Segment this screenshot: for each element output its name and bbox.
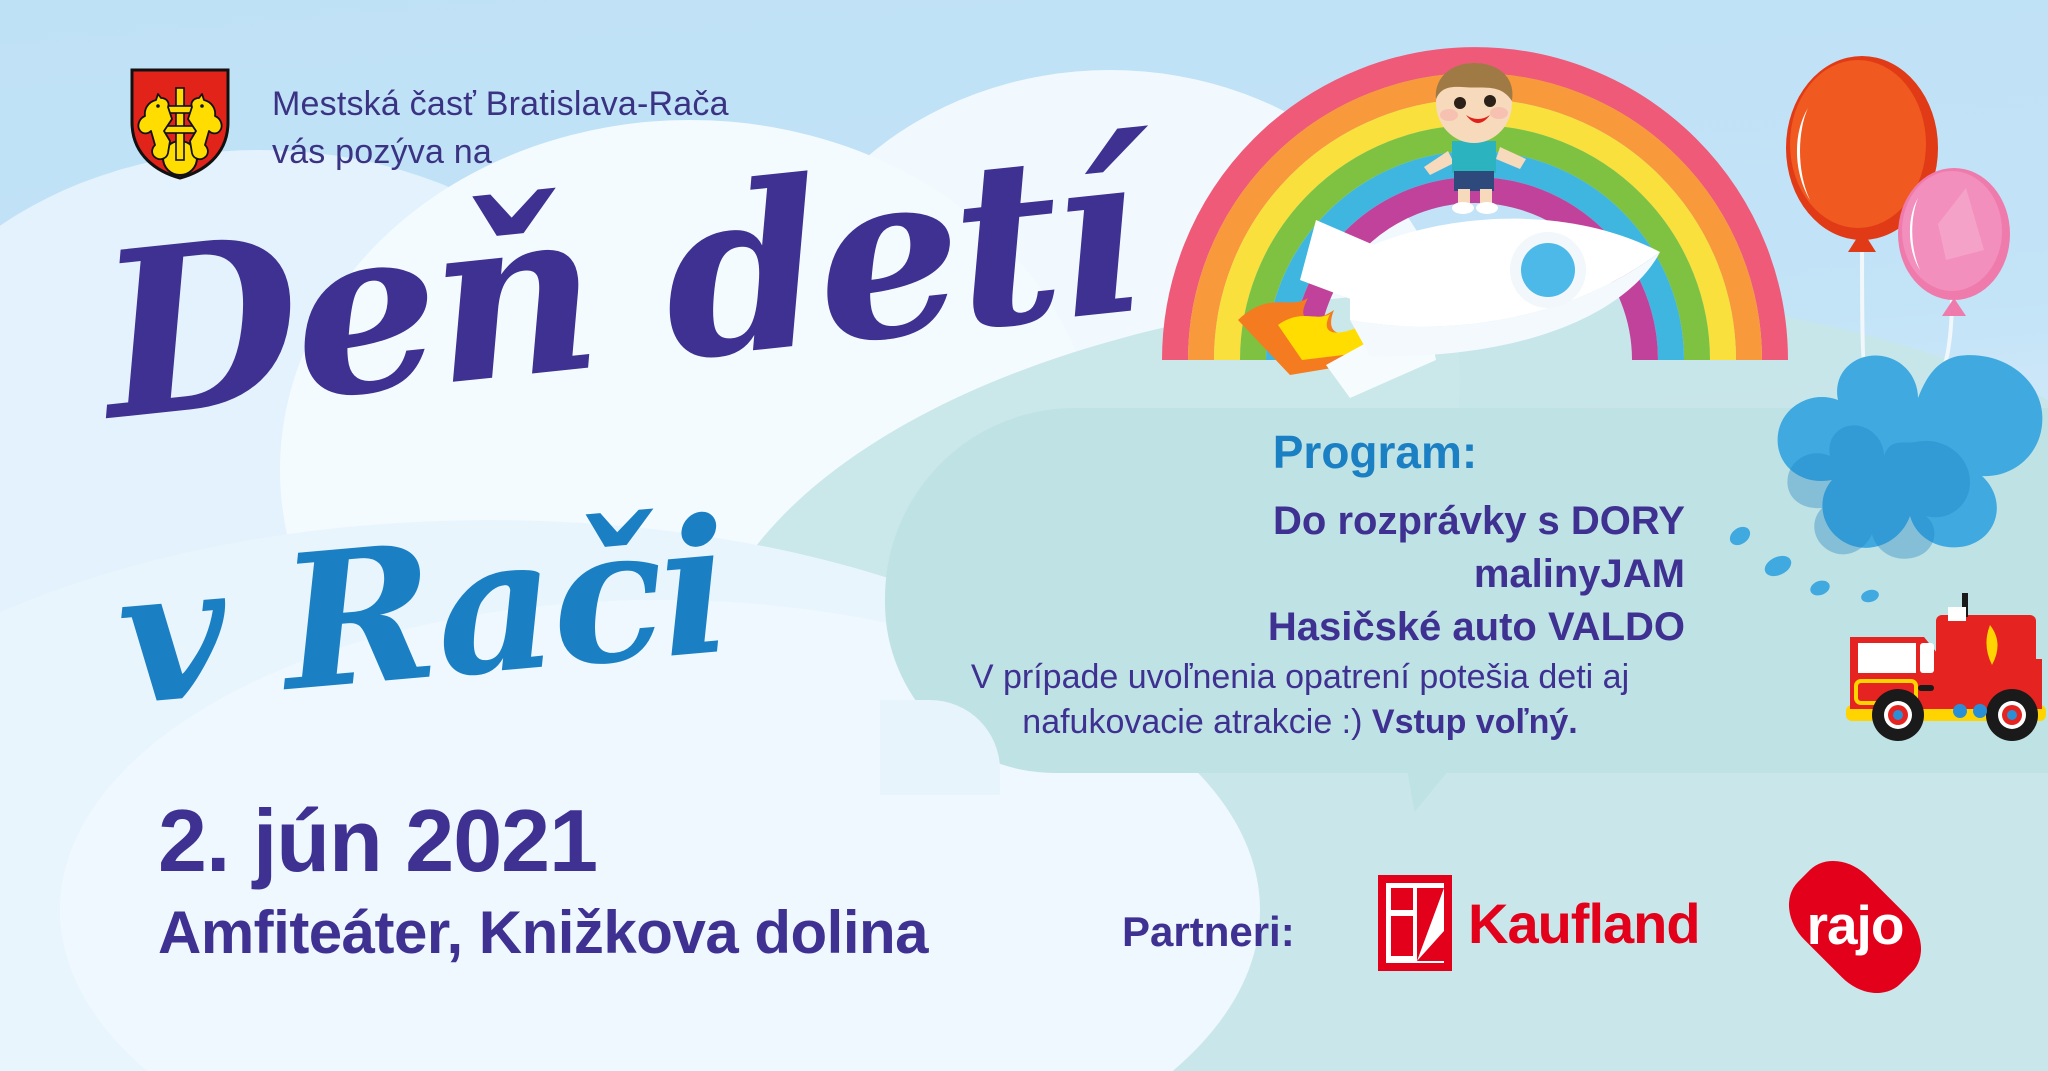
program-item: malinyJAM	[1045, 548, 1685, 601]
kaufland-wordmark: Kaufland	[1468, 891, 1700, 956]
rajo-wordmark: rajo	[1760, 868, 1950, 986]
kaufland-logo: Kaufland	[1378, 875, 1700, 971]
poster-canvas: Mestská časť Bratislava-Rača vás pozýva …	[0, 0, 2048, 1071]
program-note-bold: Vstup voľný.	[1372, 703, 1578, 741]
partners-label: Partneri:	[1122, 908, 1295, 956]
program-note: V prípade uvoľnenia opatrení potešia det…	[900, 655, 1700, 745]
bratislava-raca-coat-of-arms-icon	[128, 66, 232, 182]
organizer-line-1: Mestská časť Bratislava-Rača	[272, 80, 729, 128]
event-date: 2. jún 2021	[158, 790, 597, 892]
program-item: Hasičské auto VALDO	[1045, 601, 1685, 654]
program-heading: Program:	[1045, 425, 1705, 479]
program-list: Do rozprávky s DORY malinyJAM Hasičské a…	[1045, 495, 1685, 653]
event-place: Amfiteáter, Knižkova dolina	[158, 898, 928, 967]
page-subtitle: v Rači	[111, 494, 733, 731]
rajo-logo: rajo	[1760, 868, 1950, 986]
kaufland-mark-icon	[1378, 875, 1452, 971]
program-item: Do rozprávky s DORY	[1045, 495, 1685, 548]
